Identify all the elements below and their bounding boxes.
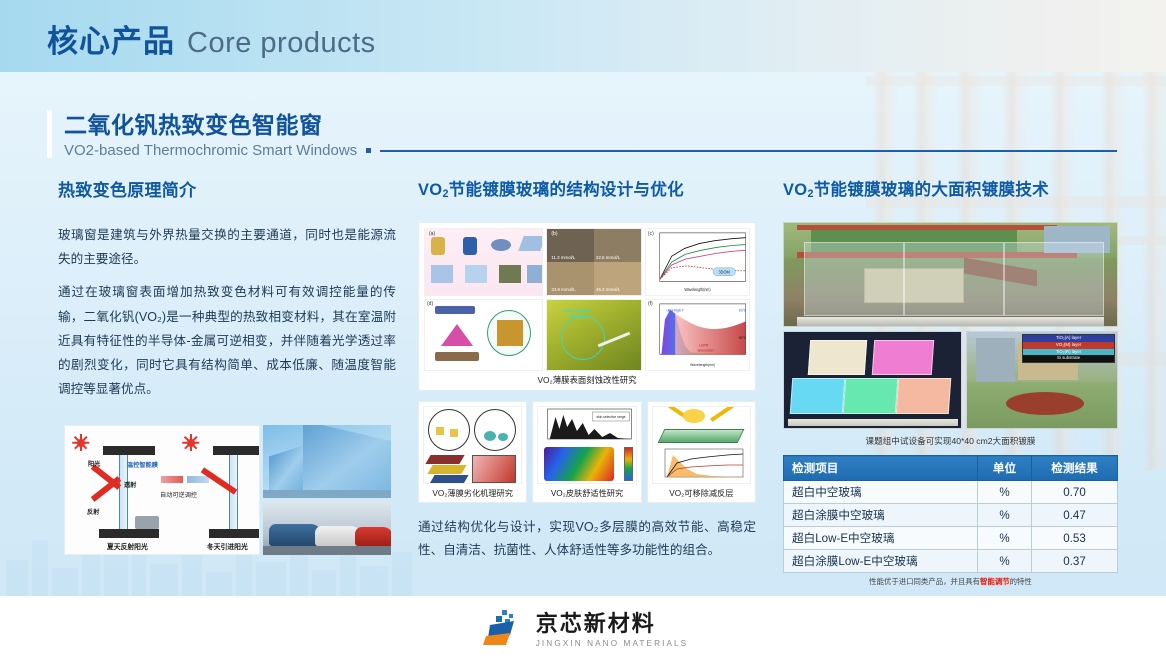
sun-icon-winter [183, 435, 198, 450]
photo-color-samples [783, 331, 962, 429]
figure-e-leaf-photo: Nano porous VO₂ film [546, 299, 642, 371]
label-auto-reversible: 自动可逆调控 [160, 490, 197, 499]
column-large-area-coating: VO2节能镀膜玻璃的大面积镀膜技术 [783, 176, 1118, 587]
slide-header: 核心产品 Core products [0, 0, 1166, 72]
svg-text:Wavelength(nm): Wavelength(nm) [690, 363, 715, 367]
column1-body: 玻璃窗是建筑与外界热量交换的主要通道，同时也是能源流失的主要途径。 通过在玻璃窗… [58, 223, 396, 401]
card-caption-3: VO₂可移除减反层 [652, 484, 751, 500]
photo-glass-building [263, 425, 391, 498]
column3-title-rest: 节能镀膜玻璃的大面积镀膜技术 [814, 181, 1049, 199]
cell-result: 0.37 [1032, 550, 1118, 573]
table-header-result: 检测结果 [1032, 456, 1118, 481]
column3-title-prefix: VO [783, 181, 807, 199]
table-footnote: 性能优于进口同类产品，并且具有智能调节的特性 [783, 576, 1118, 587]
figure-b-samples: (b) 11.3 mmol/L 22.6 mmol/L 33.9 mmol/L … [546, 228, 642, 296]
column3-photo-group: TiO₂(A) layer VO₂(M) layer TiO₂(R) layer… [783, 222, 1118, 447]
cell-unit: % [978, 550, 1032, 573]
svg-text:20°C: 20°C [739, 308, 747, 312]
summer-window-diagram: 阳光 温控智能膜 透射 反射 自动可逆调控 夏天反射阳光 冬天引进阳光 [64, 425, 260, 555]
svg-text:90°C: 90°C [739, 336, 747, 340]
section-rule-dot [366, 148, 371, 153]
figure-d-process: (d) [424, 299, 543, 371]
svg-text:Wavelength(nm): Wavelength(nm) [684, 288, 711, 292]
test-results-table: 检测项目 单位 检测结果 超白中空玻璃 % 0.70 超白涂膜中空玻璃 % 0.… [783, 455, 1118, 573]
label-smart-film: 温控智能膜 [127, 460, 158, 469]
column-principle: 热致变色原理简介 玻璃窗是建筑与外界热量交换的主要通道，同时也是能源流失的主要途… [58, 176, 396, 410]
cell-item: 超白涂膜中空玻璃 [784, 504, 978, 527]
table-row: 超白Low-E中空玻璃 % 0.53 [784, 527, 1118, 550]
figure-grid-top: (a) (b) 11.3 mmol/L 22.6 mmol/L 33.9 mmo… [424, 228, 750, 371]
illustration-photos [263, 425, 391, 555]
figure-f-spectrum-chart: ultra-high T 20°C 90°C LSPR absorption W… [645, 299, 750, 371]
section-title-en: VO2-based Thermochromic Smart Windows [64, 142, 357, 159]
cell-item: 超白中空玻璃 [784, 481, 978, 504]
svg-text:LSPR: LSPR [699, 343, 708, 347]
footnote-suffix: 的特性 [1010, 577, 1032, 586]
section-title-block: 二氧化钒热致变色智能窗 VO2-based Thermochromic Smar… [47, 106, 1117, 159]
company-logo: 京芯新材料 JINGXIN NANO MATERIALS [478, 606, 689, 648]
card-caption-1: VO₂薄膜劣化机理研究 [423, 484, 522, 500]
column3-lower-photos: TiO₂(A) layer VO₂(M) layer TiO₂(R) layer… [783, 331, 1118, 429]
svg-text:ultra-high T: ultra-high T [667, 308, 685, 312]
column2-top-caption: VO₂薄膜表面刻蚀改性研究 [424, 371, 750, 387]
column2-card-row: VO₂薄膜劣化机理研究 skin selective range VO₂皮肤舒适… [418, 401, 756, 503]
ruler [788, 419, 958, 426]
svg-text:3DOM: 3DOM [718, 269, 730, 274]
cell-item: 超白Low-E中空玻璃 [784, 527, 978, 550]
layer-label-1: TiO₂(A) layer [1023, 335, 1114, 342]
photo-cars [263, 501, 391, 555]
caption-summer: 夏天反射阳光 [107, 541, 148, 551]
footnote-prefix: 性能优于进口同类产品，并且具有 [869, 577, 980, 586]
cell-unit: % [978, 527, 1032, 550]
table-row: 超白涂膜Low-E中空玻璃 % 0.37 [784, 550, 1118, 573]
label-sunlight-summer: 阳光 [88, 459, 100, 468]
photo-campus-coating: TiO₂(A) layer VO₂(M) layer TiO₂(R) layer… [966, 331, 1118, 429]
section-title-cn: 二氧化钒热致变色智能窗 [64, 106, 1117, 140]
section-accent-bar [47, 110, 52, 158]
column2-figure-panel: (a) (b) 11.3 mmol/L 22.6 mmol/L 33.9 mmo… [418, 222, 756, 391]
layer-label-2: VO₂(M) layer [1023, 342, 1114, 349]
cell-result: 0.47 [1032, 504, 1118, 527]
cell-unit: % [978, 481, 1032, 504]
svg-text:skin selective range: skin selective range [597, 415, 626, 419]
layer-label-4: Si substrate [1023, 355, 1114, 362]
layer-stack-legend: TiO₂(A) layer VO₂(M) layer TiO₂(R) layer… [1022, 334, 1115, 363]
figure-c-transmittance-chart: 3DOM Wavelength(nm) (c) [645, 228, 750, 296]
card-skin-comfort: skin selective range VO₂皮肤舒适性研究 [532, 401, 641, 503]
section-subtitle-row: VO2-based Thermochromic Smart Windows [64, 142, 1117, 159]
layer-label-3: TiO₂(R) layer [1023, 349, 1114, 356]
column2-title: VO2节能镀膜玻璃的结构设计与优化 [418, 176, 756, 200]
column2-title-prefix: VO [418, 181, 442, 199]
column-structure-design: VO2节能镀膜玻璃的结构设计与优化 (a) [418, 176, 756, 563]
cell-result: 0.53 [1032, 527, 1118, 550]
figure-a-synthesis: (a) [424, 228, 543, 296]
column1-paragraph-1: 玻璃窗是建筑与外界热量交换的主要通道，同时也是能源流失的主要途径。 [58, 223, 396, 271]
card-removable-ar: VO₂可移除减反层 [647, 401, 756, 503]
caption-winter: 冬天引进阳光 [207, 541, 248, 551]
table-header-unit: 单位 [978, 456, 1032, 481]
section-rule-line [380, 150, 1117, 152]
table-row: 超白中空玻璃 % 0.70 [784, 481, 1118, 504]
logo-text-en: JINGXIN NANO MATERIALS [536, 639, 689, 648]
column1-paragraph-2: 通过在玻璃窗表面增加热致变色材料可有效调控能量的传输，二氧化钒(VO₂)是一种典… [58, 280, 396, 401]
table-header-item: 检测项目 [784, 456, 978, 481]
label-reflect: 反射 [87, 507, 99, 516]
header-title-group: 核心产品 Core products [47, 16, 376, 61]
logo-text-cn: 京芯新材料 [536, 606, 689, 638]
photo-large-coated-glass [783, 222, 1118, 327]
slide-root: 核心产品 Core products 二氧化钒热致变色智能窗 VO2-based… [0, 0, 1166, 658]
slide-footer: 京芯新材料 JINGXIN NANO MATERIALS [0, 596, 1166, 658]
column1-title: 热致变色原理简介 [58, 176, 396, 201]
cell-result: 0.70 [1032, 481, 1118, 504]
footnote-highlight: 智能调节 [980, 577, 1010, 586]
sun-icon-summer [73, 435, 88, 450]
thermochromic-illustration: 阳光 温控智能膜 透射 反射 自动可逆调控 夏天反射阳光 冬天引进阳光 [64, 425, 391, 555]
label-transmit: 透射 [124, 480, 136, 489]
header-title-en: Core products [187, 27, 376, 60]
logo-mark-icon [478, 608, 526, 646]
header-title-cn: 核心产品 [47, 16, 175, 61]
cell-item: 超白涂膜Low-E中空玻璃 [784, 550, 978, 573]
column2-note: 通过结构优化与设计，实现VO₂多层膜的高效节能、高稳定性、自清洁、抗菌性、人体舒… [418, 516, 756, 563]
column3-title: VO2节能镀膜玻璃的大面积镀膜技术 [783, 176, 1118, 200]
logo-text-group: 京芯新材料 JINGXIN NANO MATERIALS [536, 606, 689, 648]
table-row: 超白涂膜中空玻璃 % 0.47 [784, 504, 1118, 527]
card-degradation: VO₂薄膜劣化机理研究 [418, 401, 527, 503]
cell-unit: % [978, 504, 1032, 527]
card-caption-2: VO₂皮肤舒适性研究 [537, 484, 636, 500]
svg-text:absorption: absorption [697, 348, 713, 352]
table-header-row: 检测项目 单位 检测结果 [784, 456, 1118, 481]
column3-photo-caption: 课题组中试设备可实现40*40 cm2大面积镀膜 [783, 435, 1118, 447]
column2-title-rest: 节能镀膜玻璃的结构设计与优化 [449, 181, 684, 199]
